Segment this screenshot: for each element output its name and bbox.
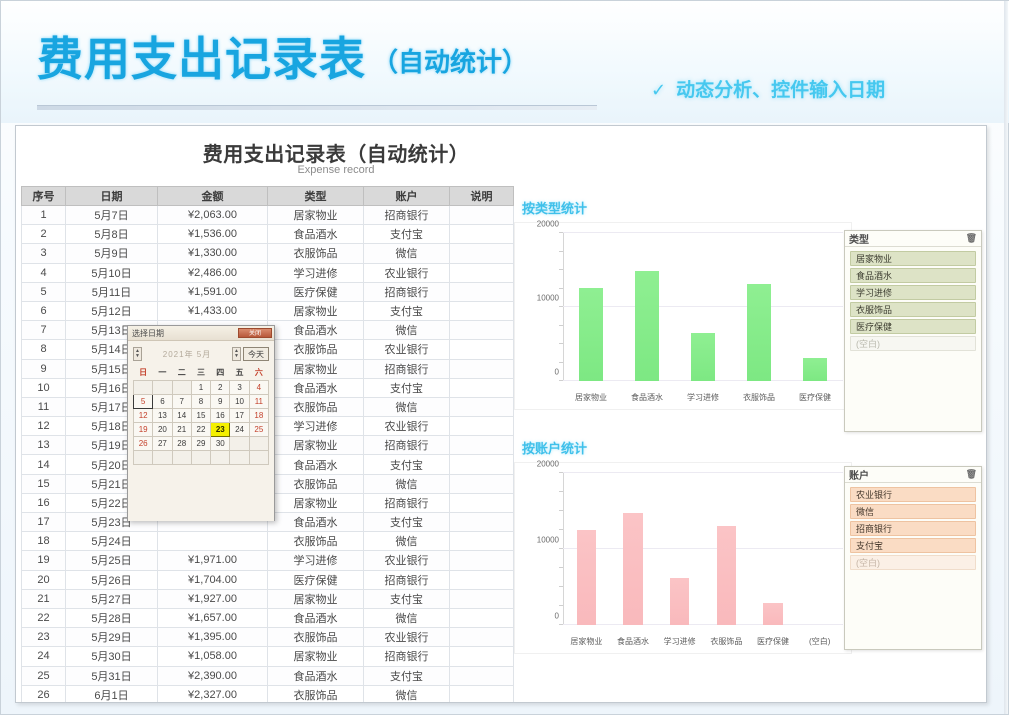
calendar-day-cell[interactable]: 30 bbox=[211, 436, 230, 450]
table-cell[interactable]: 衣服饰品 bbox=[268, 532, 364, 551]
table-cell[interactable]: 居家物业 bbox=[268, 589, 364, 608]
table-cell[interactable]: ¥1,704.00 bbox=[158, 570, 268, 589]
table-cell[interactable]: 招商银行 bbox=[364, 570, 450, 589]
chart-bar[interactable] bbox=[635, 271, 659, 381]
table-cell[interactable]: 5月25日 bbox=[66, 551, 158, 570]
table-cell[interactable]: 2 bbox=[22, 225, 66, 244]
calendar-day-cell[interactable]: 28 bbox=[172, 436, 191, 450]
calendar-day-cell[interactable]: 3 bbox=[230, 380, 249, 394]
filter-clear-icon[interactable]: 🗑 bbox=[966, 469, 977, 480]
table-cell[interactable]: 支付宝 bbox=[364, 666, 450, 685]
table-cell[interactable] bbox=[450, 608, 514, 627]
calendar-day-cell[interactable]: 7 bbox=[172, 394, 191, 408]
chart-title-by-account: 按账户统计 bbox=[522, 438, 587, 457]
date-picker-body: ▲▼ 2021年 5月 ▲▼ 今天 日一二三四五六 12345678910111… bbox=[128, 341, 274, 521]
chart-by-account[interactable]: 01000020000 居家物业食品酒水学习进修衣服饰品医疗保健(空白) bbox=[514, 462, 852, 654]
table-row[interactable]: 185月24日衣服饰品微信 bbox=[22, 532, 514, 551]
table-cell[interactable]: ¥1,591.00 bbox=[158, 282, 268, 301]
weekday-label: 一 bbox=[153, 366, 172, 380]
month-spinner[interactable]: ▲▼ bbox=[232, 347, 241, 361]
calendar-day-cell[interactable]: 1 bbox=[191, 380, 210, 394]
chart-bar[interactable] bbox=[763, 603, 783, 625]
table-cell[interactable]: 26 bbox=[22, 685, 66, 703]
chart-bar-slot bbox=[563, 473, 610, 625]
calendar-day-cell[interactable]: 27 bbox=[153, 436, 172, 450]
table-cell[interactable] bbox=[450, 589, 514, 608]
table-cell[interactable]: 3 bbox=[22, 244, 66, 263]
calendar-day-cell[interactable]: 5 bbox=[134, 394, 153, 408]
table-cell[interactable]: ¥1,058.00 bbox=[158, 647, 268, 666]
calendar-empty-cell bbox=[172, 380, 191, 394]
calendar-day-cell[interactable]: 14 bbox=[172, 408, 191, 422]
table-cell[interactable] bbox=[450, 513, 514, 532]
chart-xtick-label: 医疗保健 bbox=[750, 636, 797, 647]
chart-xtick-label: 居家物业 bbox=[563, 636, 610, 647]
table-cell[interactable] bbox=[158, 532, 268, 551]
slicer-account[interactable]: 账户 🗑 农业银行微信招商银行支付宝(空白) bbox=[844, 466, 982, 650]
table-cell[interactable]: 5月11日 bbox=[66, 282, 158, 301]
chart-by-account-bars bbox=[563, 473, 843, 625]
table-cell[interactable] bbox=[450, 359, 514, 378]
chart-ytick-label: 0 bbox=[555, 612, 559, 621]
table-cell[interactable]: 居家物业 bbox=[268, 301, 364, 320]
table-cell[interactable]: ¥2,390.00 bbox=[158, 666, 268, 685]
table-header-cell[interactable]: 类型 bbox=[268, 187, 364, 206]
table-cell[interactable]: 衣服饰品 bbox=[268, 340, 364, 359]
chart-xtick-label: 医疗保健 bbox=[787, 392, 843, 403]
table-cell[interactable]: 5月10日 bbox=[66, 263, 158, 282]
chart-ytick-label: 10000 bbox=[537, 294, 559, 303]
table-cell[interactable] bbox=[450, 225, 514, 244]
calendar-day-cell[interactable]: 29 bbox=[191, 436, 210, 450]
table-header-cell[interactable]: 日期 bbox=[66, 187, 158, 206]
calendar-empty-cell bbox=[172, 450, 191, 464]
table-cell[interactable]: ¥1,330.00 bbox=[158, 244, 268, 263]
table-cell[interactable]: 支付宝 bbox=[364, 589, 450, 608]
table-cell[interactable] bbox=[450, 436, 514, 455]
table-header-cell[interactable]: 说明 bbox=[450, 187, 514, 206]
slicer-item[interactable]: 医疗保健 bbox=[850, 319, 976, 334]
table-cell[interactable]: 支付宝 bbox=[364, 301, 450, 320]
table-cell[interactable]: 学习进修 bbox=[268, 551, 364, 570]
calendar-day-cell[interactable]: 9 bbox=[211, 394, 230, 408]
date-picker-title: 选择日期 bbox=[130, 328, 164, 339]
table-cell[interactable]: ¥2,327.00 bbox=[158, 685, 268, 703]
table-cell[interactable]: 支付宝 bbox=[364, 225, 450, 244]
table-cell[interactable]: 5月8日 bbox=[66, 225, 158, 244]
table-cell[interactable]: 农业银行 bbox=[364, 417, 450, 436]
chart-bar-slot bbox=[750, 473, 797, 625]
calendar-empty-cell bbox=[230, 436, 249, 450]
table-cell[interactable]: 学习进修 bbox=[268, 417, 364, 436]
chart-ytick-label: 20000 bbox=[537, 460, 559, 469]
table-cell[interactable]: 8 bbox=[22, 340, 66, 359]
date-picker-grid[interactable]: 日一二三四五六 12345678910111213141516171819202… bbox=[133, 366, 269, 465]
table-cell[interactable]: 招商银行 bbox=[364, 647, 450, 666]
calendar-empty-cell bbox=[134, 380, 153, 394]
table-cell[interactable]: 农业银行 bbox=[364, 263, 450, 282]
table-cell[interactable]: 居家物业 bbox=[268, 206, 364, 225]
table-cell[interactable] bbox=[450, 474, 514, 493]
slicer-item-blank[interactable]: (空白) bbox=[850, 555, 976, 570]
table-cell[interactable]: 23 bbox=[22, 628, 66, 647]
date-picker-days[interactable]: 1234567891011121314151617181920212223242… bbox=[134, 380, 269, 464]
slicer-account-header: 账户 🗑 bbox=[845, 467, 981, 483]
table-cell[interactable] bbox=[450, 455, 514, 474]
table-cell[interactable]: 16 bbox=[22, 493, 66, 512]
calendar-day-cell[interactable]: 18 bbox=[249, 408, 268, 422]
slicer-item[interactable]: 微信 bbox=[850, 504, 976, 519]
table-cell[interactable]: 居家物业 bbox=[268, 436, 364, 455]
table-row[interactable]: 35月9日¥1,330.00衣服饰品微信 bbox=[22, 244, 514, 263]
calendar-empty-cell bbox=[191, 450, 210, 464]
table-cell[interactable]: 15 bbox=[22, 474, 66, 493]
calendar-empty-cell bbox=[211, 450, 230, 464]
calendar-day-cell[interactable]: 23 bbox=[211, 422, 230, 436]
table-cell[interactable]: 衣服饰品 bbox=[268, 628, 364, 647]
table-cell[interactable] bbox=[450, 321, 514, 340]
table-cell[interactable]: 衣服饰品 bbox=[268, 474, 364, 493]
banner-note: ✓动态分析、控件输入日期 bbox=[651, 75, 885, 102]
table-cell[interactable]: 招商银行 bbox=[364, 282, 450, 301]
chart-bar[interactable] bbox=[670, 578, 690, 626]
table-cell[interactable]: 5月12日 bbox=[66, 301, 158, 320]
date-picker-titlebar: 选择日期 关闭 bbox=[128, 326, 274, 341]
chart-bar[interactable] bbox=[623, 513, 643, 625]
chart-bar[interactable] bbox=[691, 333, 715, 381]
slicer-account-list[interactable]: 农业银行微信招商银行支付宝(空白) bbox=[845, 483, 981, 574]
table-row[interactable]: 195月25日¥1,971.00学习进修农业银行 bbox=[22, 551, 514, 570]
table-cell[interactable]: 10 bbox=[22, 378, 66, 397]
table-cell[interactable]: ¥1,395.00 bbox=[158, 628, 268, 647]
chart-bar[interactable] bbox=[803, 358, 827, 381]
calendar-week-row: 1234 bbox=[134, 380, 269, 394]
table-cell[interactable]: 微信 bbox=[364, 532, 450, 551]
table-cell[interactable]: 5月29日 bbox=[66, 628, 158, 647]
table-cell[interactable]: 微信 bbox=[364, 474, 450, 493]
table-cell[interactable]: 食品酒水 bbox=[268, 666, 364, 685]
table-cell[interactable]: 1 bbox=[22, 206, 66, 225]
slicer-item-blank[interactable]: (空白) bbox=[850, 336, 976, 351]
table-cell[interactable]: 农业银行 bbox=[364, 628, 450, 647]
table-cell[interactable]: 4 bbox=[22, 263, 66, 282]
table-cell[interactable]: 22 bbox=[22, 608, 66, 627]
table-row[interactable]: 45月10日¥2,486.00学习进修农业银行 bbox=[22, 263, 514, 282]
table-row[interactable]: 15月7日¥2,063.00居家物业招商银行 bbox=[22, 206, 514, 225]
table-cell[interactable]: 5月9日 bbox=[66, 244, 158, 263]
banner-title-paren: （自动统计） bbox=[372, 47, 528, 77]
chart-bar[interactable] bbox=[579, 288, 603, 381]
table-header-cell[interactable]: 账户 bbox=[364, 187, 450, 206]
year-spinner[interactable]: ▲▼ bbox=[133, 347, 142, 361]
table-cell[interactable]: 25 bbox=[22, 666, 66, 685]
chart-xtick-label: 衣服饰品 bbox=[703, 636, 750, 647]
table-cell[interactable] bbox=[450, 628, 514, 647]
table-row[interactable]: 215月27日¥1,927.00居家物业支付宝 bbox=[22, 589, 514, 608]
chart-xtick-label: 食品酒水 bbox=[610, 636, 657, 647]
table-row[interactable]: 205月26日¥1,704.00医疗保健招商银行 bbox=[22, 570, 514, 589]
chart-by-type-bars bbox=[563, 233, 843, 381]
chart-bar-slot bbox=[787, 233, 843, 381]
calendar-day-cell[interactable]: 6 bbox=[153, 394, 172, 408]
calendar-empty-cell bbox=[249, 450, 268, 464]
chart-bar-slot bbox=[731, 233, 787, 381]
table-cell[interactable]: 18 bbox=[22, 532, 66, 551]
table-cell[interactable]: 农业银行 bbox=[364, 340, 450, 359]
table-cell[interactable]: 居家物业 bbox=[268, 359, 364, 378]
chart-bar[interactable] bbox=[747, 284, 771, 381]
table-cell[interactable]: 20 bbox=[22, 570, 66, 589]
table-cell[interactable]: 21 bbox=[22, 589, 66, 608]
table-cell[interactable]: 5月26日 bbox=[66, 570, 158, 589]
calendar-week-row bbox=[134, 450, 269, 464]
calendar-day-cell[interactable]: 20 bbox=[153, 422, 172, 436]
table-cell[interactable]: 医疗保健 bbox=[268, 282, 364, 301]
filter-clear-icon[interactable]: 🗑 bbox=[966, 233, 977, 244]
banner-title: 费用支出记录表（自动统计） bbox=[37, 23, 528, 89]
slicer-item[interactable]: 居家物业 bbox=[850, 251, 976, 266]
table-cell[interactable]: 11 bbox=[22, 397, 66, 416]
calendar-day-cell[interactable]: 26 bbox=[134, 436, 153, 450]
slicer-item[interactable]: 支付宝 bbox=[850, 538, 976, 553]
slicer-item[interactable]: 衣服饰品 bbox=[850, 302, 976, 317]
table-cell[interactable]: ¥1,536.00 bbox=[158, 225, 268, 244]
table-cell[interactable] bbox=[450, 397, 514, 416]
banner: 费用支出记录表（自动统计） ✓动态分析、控件输入日期 bbox=[1, 1, 1009, 123]
chart-xtick-label: 居家物业 bbox=[563, 392, 619, 403]
calendar-empty-cell bbox=[230, 450, 249, 464]
date-picker-period: 2021年 5月 bbox=[144, 349, 230, 360]
table-cell[interactable]: 微信 bbox=[364, 608, 450, 627]
table-cell[interactable]: ¥2,486.00 bbox=[158, 263, 268, 282]
calendar-day-cell[interactable]: 10 bbox=[230, 394, 249, 408]
table-cell[interactable]: 招商银行 bbox=[364, 359, 450, 378]
table-cell[interactable]: 支付宝 bbox=[364, 378, 450, 397]
chart-bar-slot bbox=[656, 473, 703, 625]
table-cell[interactable]: 微信 bbox=[364, 321, 450, 340]
chart-xtick-label: (空白) bbox=[796, 636, 843, 647]
table-cell[interactable]: 居家物业 bbox=[268, 647, 364, 666]
chart-xtick-label: 学习进修 bbox=[675, 392, 731, 403]
table-cell[interactable]: 食品酒水 bbox=[268, 378, 364, 397]
chart-bar-slot bbox=[563, 233, 619, 381]
table-cell[interactable]: 居家物业 bbox=[268, 493, 364, 512]
table-cell[interactable]: 5月31日 bbox=[66, 666, 158, 685]
table-cell[interactable]: 衣服饰品 bbox=[268, 397, 364, 416]
table-cell[interactable]: 招商银行 bbox=[364, 436, 450, 455]
weekday-header-row: 日一二三四五六 bbox=[134, 366, 269, 380]
calendar-week-row: 2627282930 bbox=[134, 436, 269, 450]
table-cell[interactable]: 医疗保健 bbox=[268, 570, 364, 589]
weekday-label: 五 bbox=[230, 366, 249, 380]
table-row[interactable]: 255月31日¥2,390.00食品酒水支付宝 bbox=[22, 666, 514, 685]
banner-note-text: 动态分析、控件输入日期 bbox=[676, 80, 885, 101]
table-cell[interactable]: ¥1,657.00 bbox=[158, 608, 268, 627]
calendar-empty-cell bbox=[153, 380, 172, 394]
calendar-day-cell[interactable]: 17 bbox=[230, 408, 249, 422]
weekday-label: 四 bbox=[211, 366, 230, 380]
table-row[interactable]: 55月11日¥1,591.00医疗保健招商银行 bbox=[22, 282, 514, 301]
table-cell[interactable] bbox=[450, 206, 514, 225]
table-cell[interactable] bbox=[450, 340, 514, 359]
table-cell[interactable] bbox=[450, 551, 514, 570]
calendar-day-cell[interactable]: 21 bbox=[172, 422, 191, 436]
today-button[interactable]: 今天 bbox=[243, 347, 269, 361]
slicer-type[interactable]: 类型 🗑 居家物业食品酒水学习进修衣服饰品医疗保健(空白) bbox=[844, 230, 982, 432]
table-cell[interactable]: ¥1,927.00 bbox=[158, 589, 268, 608]
table-cell[interactable]: 7 bbox=[22, 321, 66, 340]
table-cell[interactable]: 支付宝 bbox=[364, 455, 450, 474]
check-icon: ✓ bbox=[651, 80, 666, 100]
table-cell[interactable] bbox=[450, 301, 514, 320]
calendar-day-cell[interactable]: 11 bbox=[249, 394, 268, 408]
table-cell[interactable]: 农业银行 bbox=[364, 551, 450, 570]
table-cell[interactable]: 24 bbox=[22, 647, 66, 666]
calendar-day-cell[interactable]: 25 bbox=[249, 422, 268, 436]
chart-bar[interactable] bbox=[717, 526, 737, 625]
slicer-account-title: 账户 bbox=[849, 467, 869, 482]
close-icon[interactable]: 关闭 bbox=[238, 328, 272, 338]
chart-bar-slot bbox=[796, 473, 843, 625]
chart-bar-slot bbox=[703, 473, 750, 625]
table-cell[interactable]: 5月7日 bbox=[66, 206, 158, 225]
table-cell[interactable] bbox=[450, 666, 514, 685]
chart-ytick-label: 20000 bbox=[537, 220, 559, 229]
table-row[interactable]: 65月12日¥1,433.00居家物业支付宝 bbox=[22, 301, 514, 320]
chart-bar[interactable] bbox=[577, 530, 597, 625]
banner-divider bbox=[37, 105, 597, 110]
calendar-day-cell[interactable]: 22 bbox=[191, 422, 210, 436]
date-picker-popup[interactable]: 选择日期 关闭 ▲▼ 2021年 5月 ▲▼ 今天 日一二三四五六 123456… bbox=[127, 325, 275, 521]
table-cell[interactable] bbox=[450, 244, 514, 263]
table-cell[interactable]: 衣服饰品 bbox=[268, 685, 364, 703]
slicer-item[interactable]: 食品酒水 bbox=[850, 268, 976, 283]
calendar-empty-cell bbox=[153, 450, 172, 464]
table-cell[interactable]: 14 bbox=[22, 455, 66, 474]
chart-xtick-label: 衣服饰品 bbox=[731, 392, 787, 403]
chart-ytick-label: 10000 bbox=[537, 536, 559, 545]
table-cell[interactable]: 9 bbox=[22, 359, 66, 378]
table-row[interactable]: 225月28日¥1,657.00食品酒水微信 bbox=[22, 608, 514, 627]
chart-by-type-xlabels: 居家物业食品酒水学习进修衣服饰品医疗保健 bbox=[563, 392, 843, 403]
chart-title-by-type: 按类型统计 bbox=[522, 198, 587, 217]
table-cell[interactable] bbox=[450, 570, 514, 589]
table-header-cell[interactable]: 序号 bbox=[22, 187, 66, 206]
table-cell[interactable]: 5月27日 bbox=[66, 589, 158, 608]
table-cell[interactable] bbox=[450, 282, 514, 301]
slicer-item[interactable]: 招商银行 bbox=[850, 521, 976, 536]
table-cell[interactable]: 微信 bbox=[364, 397, 450, 416]
table-cell[interactable]: 13 bbox=[22, 436, 66, 455]
table-cell[interactable]: 5月24日 bbox=[66, 532, 158, 551]
calendar-empty-cell bbox=[134, 450, 153, 464]
chart-bar-slot bbox=[675, 233, 731, 381]
table-header-row: 序号日期金额类型账户说明 bbox=[22, 187, 514, 206]
calendar-day-cell[interactable]: 4 bbox=[249, 380, 268, 394]
chart-by-account-plot: 01000020000 bbox=[563, 473, 843, 625]
table-cell[interactable]: 衣服饰品 bbox=[268, 244, 364, 263]
table-cell[interactable] bbox=[450, 417, 514, 436]
banner-title-main: 费用支出记录表 bbox=[37, 33, 366, 85]
table-row[interactable]: 245月30日¥1,058.00居家物业招商银行 bbox=[22, 647, 514, 666]
table-cell[interactable]: 微信 bbox=[364, 685, 450, 703]
table-cell[interactable]: ¥1,433.00 bbox=[158, 301, 268, 320]
document-title: 费用支出记录表（自动统计） bbox=[16, 138, 656, 167]
table-cell[interactable]: 学习进修 bbox=[268, 263, 364, 282]
chart-xtick-label: 食品酒水 bbox=[619, 392, 675, 403]
table-cell[interactable]: 5 bbox=[22, 282, 66, 301]
chart-bar-slot bbox=[610, 473, 657, 625]
table-cell[interactable]: ¥1,971.00 bbox=[158, 551, 268, 570]
chart-by-account-xlabels: 居家物业食品酒水学习进修衣服饰品医疗保健(空白) bbox=[563, 636, 843, 647]
date-picker-nav: ▲▼ 2021年 5月 ▲▼ 今天 bbox=[133, 345, 269, 363]
table-cell[interactable]: 19 bbox=[22, 551, 66, 570]
slicer-type-header: 类型 🗑 bbox=[845, 231, 981, 247]
weekday-label: 六 bbox=[249, 366, 268, 380]
slicer-type-title: 类型 bbox=[849, 231, 869, 246]
table-cell[interactable]: 6 bbox=[22, 301, 66, 320]
table-cell[interactable]: 17 bbox=[22, 513, 66, 532]
slicer-item[interactable]: 农业银行 bbox=[850, 487, 976, 502]
table-cell[interactable]: 食品酒水 bbox=[268, 513, 364, 532]
table-cell[interactable]: ¥2,063.00 bbox=[158, 206, 268, 225]
table-cell[interactable]: 12 bbox=[22, 417, 66, 436]
slide-page: 费用支出记录表（自动统计） ✓动态分析、控件输入日期 费用支出记录表（自动统计）… bbox=[0, 0, 1009, 715]
table-cell[interactable]: 6月1日 bbox=[66, 685, 158, 703]
weekday-label: 日 bbox=[134, 366, 153, 380]
chart-ytick-label: 0 bbox=[555, 368, 559, 377]
table-cell[interactable]: 5月30日 bbox=[66, 647, 158, 666]
calendar-day-cell[interactable]: 16 bbox=[211, 408, 230, 422]
calendar-day-cell[interactable]: 12 bbox=[134, 408, 153, 422]
table-cell[interactable]: 微信 bbox=[364, 244, 450, 263]
table-cell[interactable]: 5月28日 bbox=[66, 608, 158, 627]
table-cell[interactable] bbox=[450, 647, 514, 666]
calendar-day-cell[interactable]: 19 bbox=[134, 422, 153, 436]
table-cell[interactable]: 食品酒水 bbox=[268, 608, 364, 627]
chart-by-type[interactable]: 01000020000 居家物业食品酒水学习进修衣服饰品医疗保健 bbox=[514, 222, 852, 410]
table-cell[interactable]: 食品酒水 bbox=[268, 455, 364, 474]
calendar-day-cell[interactable]: 13 bbox=[153, 408, 172, 422]
calendar-day-cell[interactable]: 24 bbox=[230, 422, 249, 436]
calendar-week-row: 567891011 bbox=[134, 394, 269, 408]
table-cell[interactable] bbox=[450, 532, 514, 551]
table-row[interactable]: 235月29日¥1,395.00衣服饰品农业银行 bbox=[22, 628, 514, 647]
table-cell[interactable]: 食品酒水 bbox=[268, 225, 364, 244]
table-cell[interactable] bbox=[450, 685, 514, 703]
table-cell[interactable]: 食品酒水 bbox=[268, 321, 364, 340]
calendar-empty-cell bbox=[249, 436, 268, 450]
table-cell[interactable]: 支付宝 bbox=[364, 513, 450, 532]
table-cell[interactable] bbox=[450, 493, 514, 512]
chart-by-type-plot: 01000020000 bbox=[563, 233, 843, 381]
calendar-day-cell[interactable]: 2 bbox=[211, 380, 230, 394]
table-cell[interactable]: 招商银行 bbox=[364, 493, 450, 512]
slicer-type-list[interactable]: 居家物业食品酒水学习进修衣服饰品医疗保健(空白) bbox=[845, 247, 981, 355]
table-header-cell[interactable]: 金额 bbox=[158, 187, 268, 206]
calendar-day-cell[interactable]: 15 bbox=[191, 408, 210, 422]
table-cell[interactable] bbox=[450, 378, 514, 397]
table-cell[interactable] bbox=[450, 263, 514, 282]
weekday-label: 二 bbox=[172, 366, 191, 380]
chart-bar-slot bbox=[619, 233, 675, 381]
slicer-item[interactable]: 学习进修 bbox=[850, 285, 976, 300]
table-row[interactable]: 266月1日¥2,327.00衣服饰品微信 bbox=[22, 685, 514, 703]
table-cell[interactable]: 招商银行 bbox=[364, 206, 450, 225]
table-row[interactable]: 25月8日¥1,536.00食品酒水支付宝 bbox=[22, 225, 514, 244]
worksheet: 费用支出记录表（自动统计） Expense record 序号日期金额类型账户说… bbox=[15, 125, 987, 703]
calendar-day-cell[interactable]: 8 bbox=[191, 394, 210, 408]
